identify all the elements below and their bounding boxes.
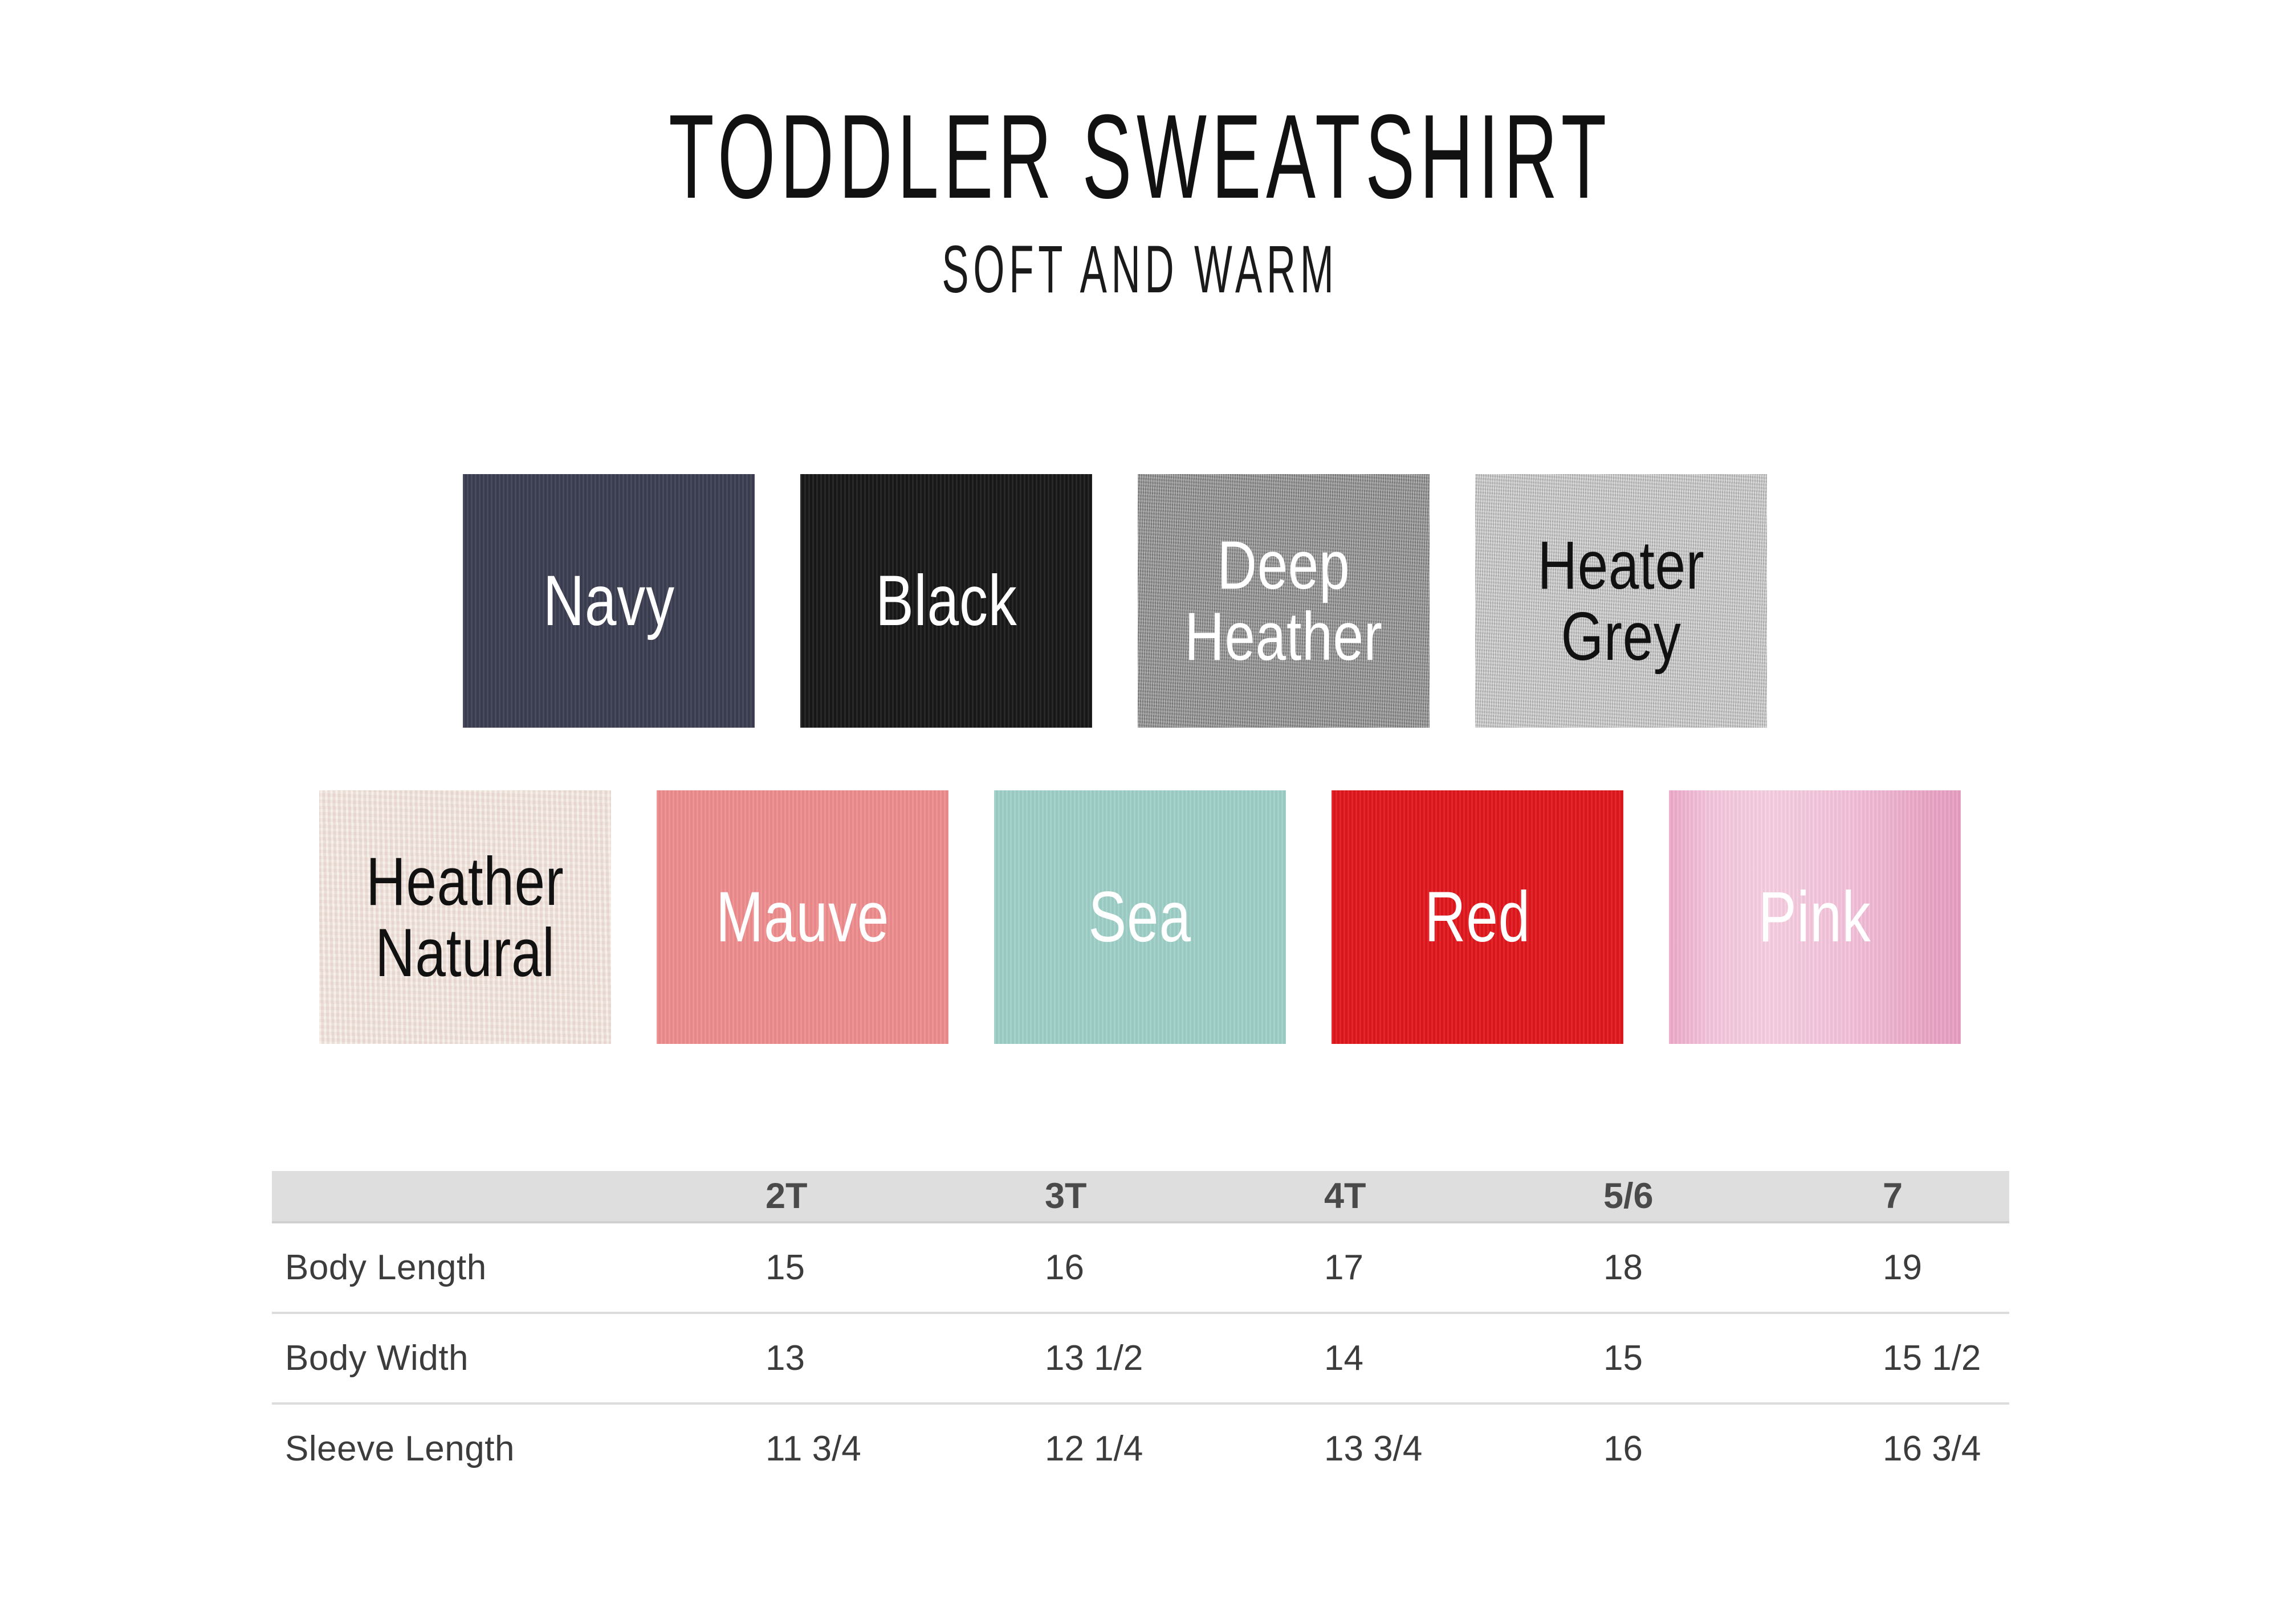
color-swatch-pink[interactable]: Pink bbox=[1669, 790, 1961, 1044]
page-header: TODDLER SWEATSHIRT SOFT AND WARM bbox=[0, 0, 2280, 303]
color-swatch-label: Sea bbox=[1089, 881, 1191, 954]
table-row-label-body-length: Body Length bbox=[285, 1248, 487, 1287]
table-cell: 15 bbox=[1603, 1339, 1643, 1378]
color-swatch-label: Black bbox=[876, 565, 1017, 638]
table-column-header-5-6: 5/6 bbox=[1603, 1176, 1654, 1216]
table-cell: 13 1/2 bbox=[1045, 1339, 1143, 1378]
table-cell: 18 bbox=[1603, 1248, 1643, 1287]
color-swatch-label: Navy bbox=[543, 565, 674, 638]
table-row: Body Length 15 16 17 18 19 bbox=[272, 1223, 2009, 1314]
table-cell: 17 bbox=[1324, 1248, 1363, 1287]
color-swatch-label: Pink bbox=[1758, 881, 1871, 954]
color-swatch-label: Red bbox=[1424, 881, 1530, 954]
size-chart-table: 2T 3T 4T 5/6 7 Body Length 15 16 17 18 1… bbox=[272, 1171, 2009, 1493]
color-swatch-label: Heather Natural bbox=[366, 846, 564, 989]
color-swatch-label: Heater Grey bbox=[1538, 530, 1705, 672]
table-cell: 13 bbox=[766, 1339, 805, 1378]
table-cell: 13 3/4 bbox=[1324, 1429, 1422, 1468]
color-swatch-label: Mauve bbox=[716, 881, 889, 954]
table-column-header-2t: 2T bbox=[766, 1176, 808, 1216]
color-swatch-row-1: Navy Black Deep Heather Heater Grey bbox=[463, 474, 1767, 728]
table-cell: 15 1/2 bbox=[1883, 1339, 1981, 1378]
color-swatch-heather-natural[interactable]: Heather Natural bbox=[319, 790, 611, 1044]
page-title: TODDLER SWEATSHIRT bbox=[433, 0, 1847, 217]
table-row-label-sleeve-length: Sleeve Length bbox=[285, 1429, 515, 1468]
table-cell: 19 bbox=[1883, 1248, 1922, 1287]
table-row: Body Width 13 13 1/2 14 15 15 1/2 bbox=[272, 1314, 2009, 1405]
table-cell: 14 bbox=[1324, 1339, 1363, 1378]
table-column-header-7: 7 bbox=[1883, 1176, 1903, 1216]
color-swatch-heater-grey[interactable]: Heater Grey bbox=[1475, 474, 1767, 728]
table-column-header-4t: 4T bbox=[1324, 1176, 1366, 1216]
color-swatch-navy[interactable]: Navy bbox=[463, 474, 755, 728]
color-swatch-black[interactable]: Black bbox=[800, 474, 1092, 728]
table-header-row: 2T 3T 4T 5/6 7 bbox=[272, 1171, 2009, 1223]
color-swatch-sea[interactable]: Sea bbox=[994, 790, 1286, 1044]
table-cell: 15 bbox=[766, 1248, 805, 1287]
color-swatch-red[interactable]: Red bbox=[1332, 790, 1623, 1044]
table-cell: 16 bbox=[1603, 1429, 1643, 1468]
color-swatch-deep-heather[interactable]: Deep Heather bbox=[1138, 474, 1430, 728]
color-swatch-mauve[interactable]: Mauve bbox=[657, 790, 948, 1044]
table-cell: 12 1/4 bbox=[1045, 1429, 1143, 1468]
color-swatch-label: Deep Heather bbox=[1184, 530, 1382, 672]
table-cell: 11 3/4 bbox=[766, 1429, 861, 1468]
table-cell: 16 bbox=[1045, 1248, 1084, 1287]
table-row: Sleeve Length 11 3/4 12 1/4 13 3/4 16 16… bbox=[272, 1405, 2009, 1493]
table-row-label-body-width: Body Width bbox=[285, 1339, 469, 1378]
page-subtitle: SOFT AND WARM bbox=[456, 217, 1824, 303]
table-cell: 16 3/4 bbox=[1883, 1429, 1981, 1468]
color-swatch-row-2: Heather Natural Mauve Sea Red Pink bbox=[319, 790, 1961, 1044]
table-column-header-3t: 3T bbox=[1045, 1176, 1087, 1216]
